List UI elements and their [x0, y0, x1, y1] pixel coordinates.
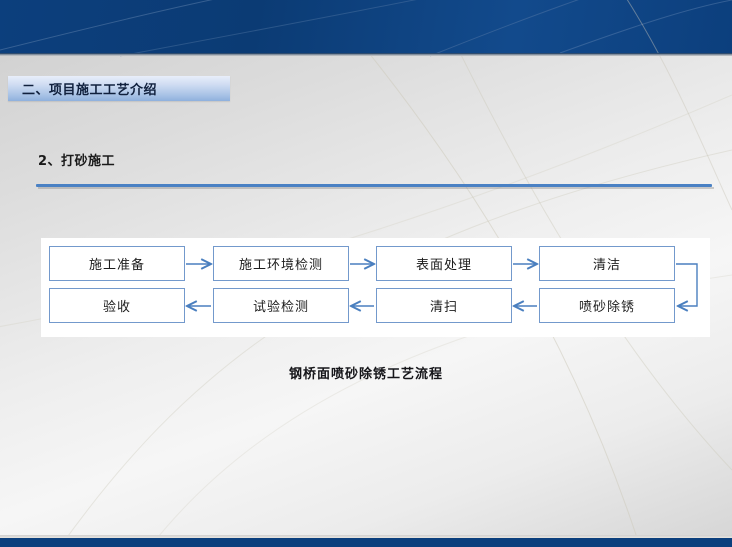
- flow-node-cleaning[interactable]: 清洁: [539, 246, 675, 281]
- flow-node-trial-inspection[interactable]: 试验检测: [213, 288, 349, 323]
- section-title-banner: 二、项目施工工艺介绍: [8, 76, 230, 101]
- flow-node-sweeping[interactable]: 清扫: [376, 288, 512, 323]
- page-subtitle: 2、打砂施工: [38, 150, 115, 169]
- flow-node-environment-inspection[interactable]: 施工环境检测: [213, 246, 349, 281]
- flow-node-construction-preparation[interactable]: 施工准备: [49, 246, 185, 281]
- section-title-text: 二、项目施工工艺介绍: [22, 79, 157, 98]
- slide: 二、项目施工工艺介绍 2、打砂施工 施工准备 施工环境检测 表面处理 清洁 验收…: [0, 0, 732, 547]
- flow-node-acceptance[interactable]: 验收: [49, 288, 185, 323]
- subtitle-rule-shadow: [38, 187, 714, 189]
- subtitle-rule: [36, 184, 712, 187]
- flow-node-surface-treatment[interactable]: 表面处理: [376, 246, 512, 281]
- flow-node-sandblasting-derusting[interactable]: 喷砂除锈: [539, 288, 675, 323]
- flowchart-caption: 钢桥面喷砂除锈工艺流程: [0, 363, 732, 382]
- slide-footer-band: [0, 538, 732, 547]
- header-divider: [0, 53, 732, 56]
- slide-header-band: [0, 0, 732, 53]
